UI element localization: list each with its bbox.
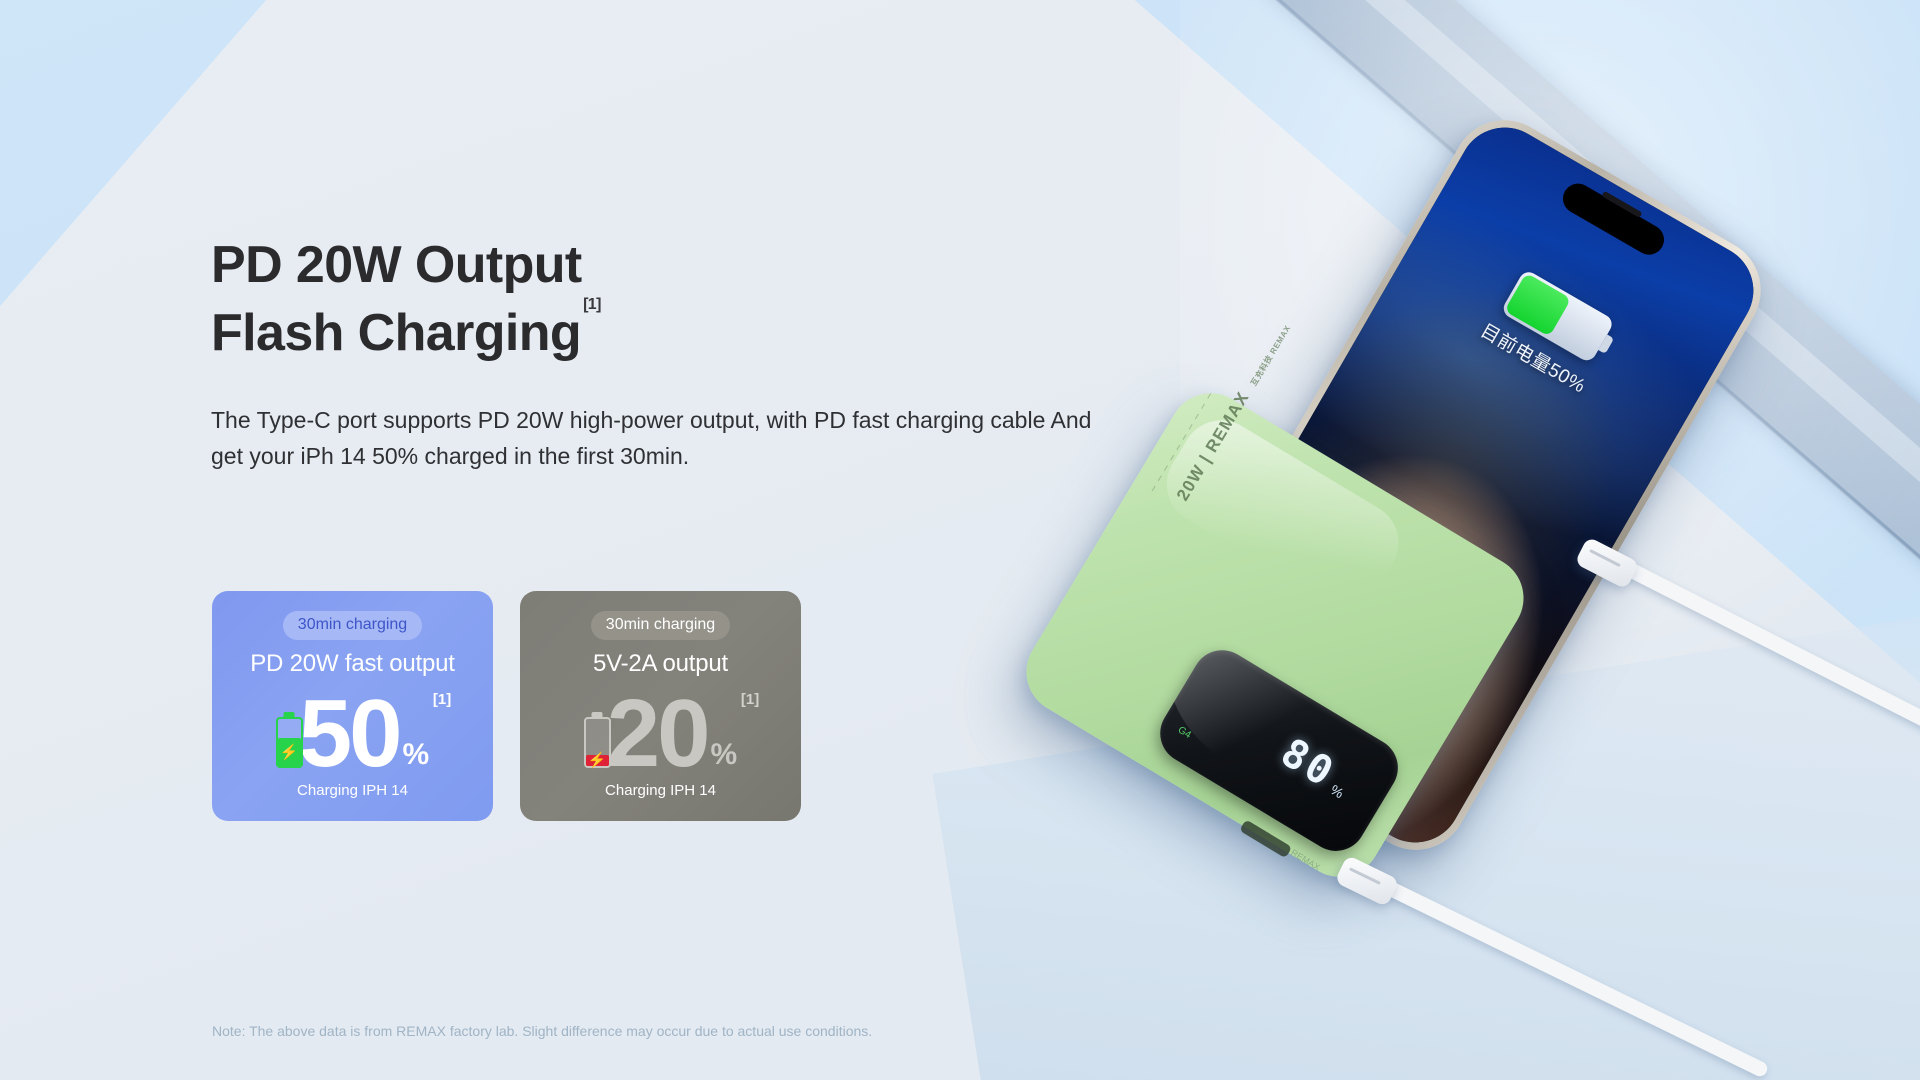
- card-figure: ⚡ 50 [1] %: [212, 680, 493, 776]
- card-title: 5V-2A output: [593, 650, 728, 678]
- headline-superscript: [1]: [583, 296, 601, 313]
- headline-line-2: Flash Charging: [211, 304, 581, 362]
- card-figure: ⚡ 20 [1] %: [520, 680, 801, 776]
- bolt-glyph: ⚡: [280, 745, 299, 760]
- card-title: PD 20W fast output: [250, 650, 455, 678]
- card-unit: %: [711, 738, 738, 772]
- card-value-superscript: [1]: [433, 691, 451, 708]
- page-title: PD 20W Output Flash Charging[1]: [211, 232, 1161, 367]
- card-badge: 30min charging: [591, 611, 730, 640]
- battery-bolt-icon: ⚡: [276, 712, 303, 768]
- card-5v-2a: 30min charging 5V-2A output ⚡ 20 [1] % C…: [520, 591, 801, 821]
- hero-description: The Type-C port supports PD 20W high-pow…: [211, 403, 1116, 474]
- card-unit: %: [403, 738, 430, 772]
- card-pd-20w: 30min charging PD 20W fast output ⚡ 50 […: [212, 591, 493, 821]
- headline-line-1: PD 20W Output: [211, 236, 582, 294]
- hero-copy: PD 20W Output Flash Charging[1] The Type…: [211, 232, 1161, 474]
- card-value-superscript: [1]: [741, 691, 759, 708]
- battery-bolt-icon: ⚡: [584, 712, 611, 768]
- card-value: 20: [607, 693, 708, 776]
- power-bank-lcd-unit: %: [1328, 781, 1347, 801]
- bolt-glyph: ⚡: [588, 753, 607, 768]
- product-banner: PD 20W Output Flash Charging[1] The Type…: [0, 0, 1920, 1080]
- power-bank-separator: |: [1196, 451, 1215, 466]
- card-badge: 30min charging: [283, 611, 422, 640]
- footnote: Note: The above data is from REMAX facto…: [212, 1023, 872, 1039]
- card-value: 50: [299, 693, 400, 776]
- comparison-cards: 30min charging PD 20W fast output ⚡ 50 […: [212, 591, 801, 821]
